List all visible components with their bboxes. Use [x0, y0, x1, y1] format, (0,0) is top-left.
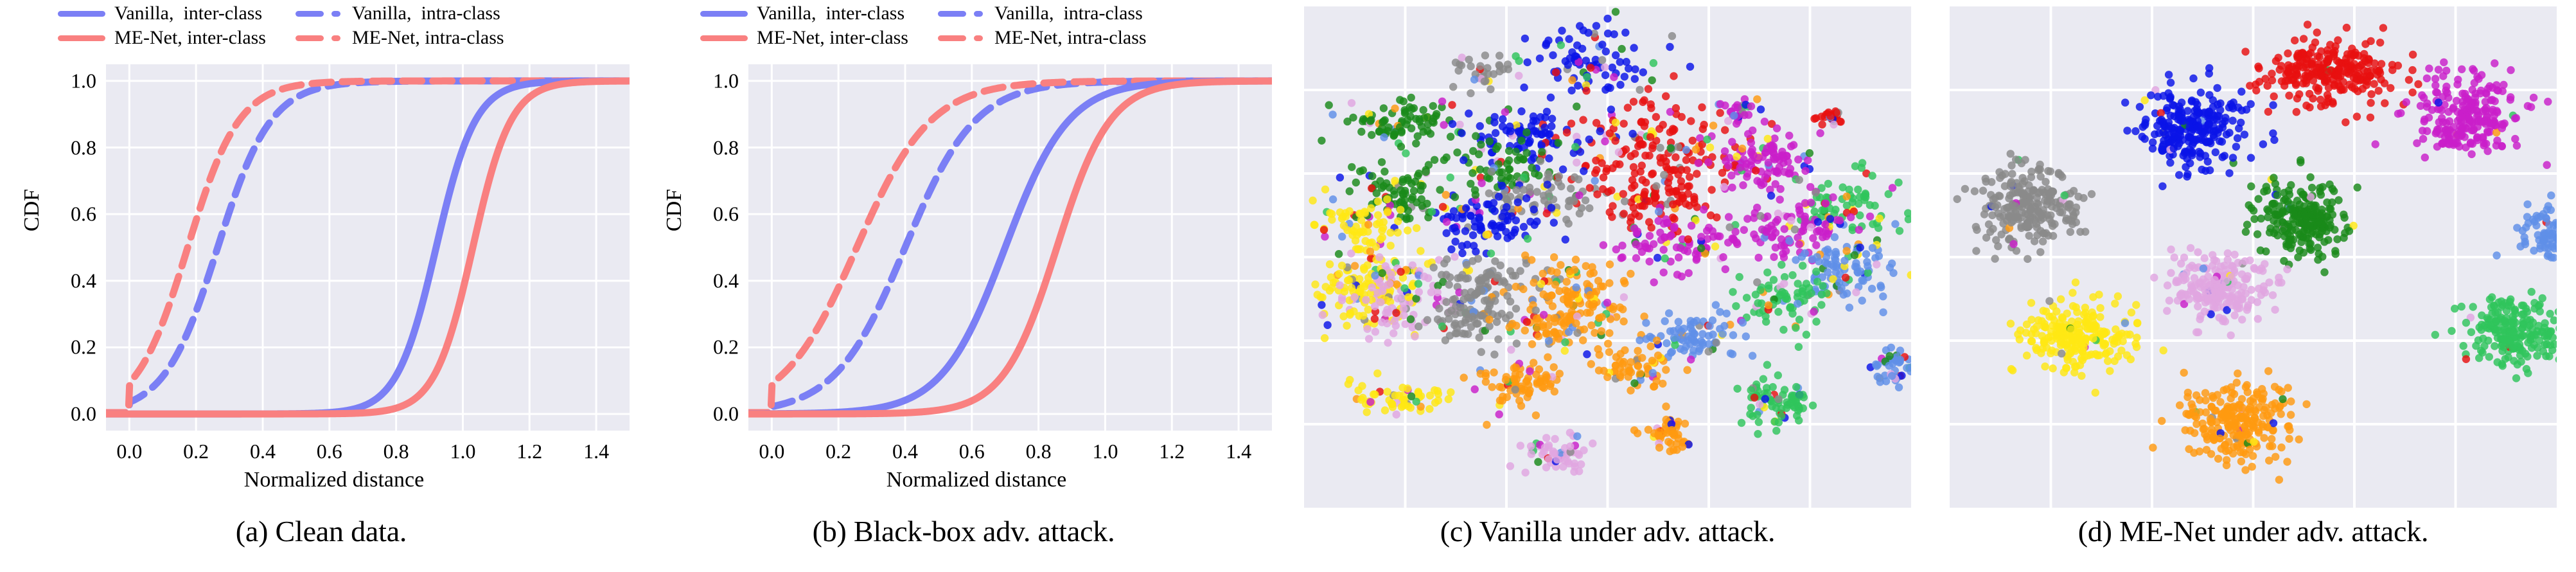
legend-swatch-solid-icon [700, 26, 748, 50]
legend-label: ME-Net, inter-class [114, 28, 266, 48]
cdf-chart-svg [106, 64, 630, 431]
tsne-scatter-svg [1950, 6, 2557, 508]
x-axis-ticks: 0.00.20.40.60.81.01.21.4 [745, 436, 1272, 468]
legend-label: Vanilla, inter-class [114, 4, 262, 23]
legend-label: ME-Net, intra-class [352, 28, 504, 48]
legend-entry: Vanilla, inter-class [700, 1, 904, 26]
y-tick-label: 0.8 [675, 136, 739, 159]
legend-entry: Vanilla, inter-class [58, 1, 262, 26]
x-tick-label: 1.2 [504, 440, 555, 463]
scatter-plot-menet [1950, 6, 2557, 508]
panel-d-menet-tsne: (d) ME-Net under adv. attack. [1930, 0, 2576, 572]
x-tick-label: 0.6 [946, 440, 998, 463]
axes-panel-a: CDF 0.00.20.40.60.81.0 0.00.20.40.60.81.… [0, 50, 642, 513]
x-axis-ticks: 0.00.20.40.60.81.01.21.4 [103, 436, 630, 468]
legend-swatch-dashed-icon [938, 1, 985, 26]
y-tick-label: 1.0 [675, 69, 739, 93]
y-tick-label: 0.0 [32, 402, 96, 426]
y-tick-label: 0.8 [32, 136, 96, 159]
legend-entry: ME-Net, inter-class [700, 26, 908, 50]
y-axis-ticks: 0.00.20.40.60.81.0 [0, 50, 96, 436]
x-tick-label: 0.6 [304, 440, 355, 463]
legend-panel-a: Vanilla, inter-classME-Net, inter-classV… [45, 1, 623, 51]
tsne-scatter-svg [1304, 6, 1911, 508]
legend-entry: ME-Net, inter-class [58, 26, 266, 50]
y-tick-label: 1.0 [32, 69, 96, 93]
y-tick-label: 0.2 [32, 335, 96, 359]
y-tick-label: 0.6 [675, 202, 739, 226]
plot-background [748, 64, 1272, 431]
legend-label: ME-Net, intra-class [994, 28, 1147, 48]
plot-area-panel-a [106, 64, 630, 431]
legend-swatch-solid-icon [58, 1, 105, 26]
cdf-chart-svg [748, 64, 1272, 431]
plot-area-panel-b [748, 64, 1272, 431]
legend-label: Vanilla, intra-class [352, 4, 500, 23]
legend-label: ME-Net, inter-class [757, 28, 908, 48]
x-tick-label: 0.8 [371, 440, 422, 463]
x-tick-label: 0.0 [746, 440, 797, 463]
y-tick-label: 0.2 [675, 335, 739, 359]
x-tick-label: 1.0 [1079, 440, 1131, 463]
panel-a-clean-data: Vanilla, inter-classME-Net, inter-classV… [0, 0, 642, 572]
y-tick-label: 0.0 [675, 402, 739, 426]
x-tick-label: 0.2 [170, 440, 222, 463]
legend-swatch-solid-icon [58, 26, 105, 50]
panel-c-vanilla-tsne: (c) Vanilla under adv. attack. [1285, 0, 1930, 572]
caption-panel-d: (d) ME-Net under adv. attack. [1930, 514, 2576, 548]
legend-swatch-dashed-icon [296, 1, 343, 26]
x-tick-label: 0.2 [813, 440, 864, 463]
caption-panel-b: (b) Black-box adv. attack. [642, 514, 1285, 548]
x-tick-label: 1.2 [1146, 440, 1197, 463]
x-tick-label: 1.4 [1213, 440, 1264, 463]
legend-swatch-solid-icon [700, 1, 748, 26]
legend-panel-b: Vanilla, inter-classME-Net, inter-classV… [687, 1, 1266, 51]
legend-swatch-dashed-icon [296, 26, 343, 50]
x-tick-label: 0.4 [879, 440, 931, 463]
legend-swatch-dashed-icon [938, 26, 985, 50]
x-tick-label: 0.4 [237, 440, 288, 463]
x-tick-label: 0.0 [103, 440, 155, 463]
legend-entry: Vanilla, intra-class [296, 1, 500, 26]
x-axis-label: Normalized distance [45, 468, 623, 492]
x-tick-label: 1.4 [570, 440, 622, 463]
y-axis-ticks: 0.00.20.40.60.81.0 [642, 50, 739, 436]
x-axis-label: Normalized distance [687, 468, 1266, 492]
legend-label: Vanilla, inter-class [757, 4, 904, 23]
figure-root: Vanilla, inter-classME-Net, inter-classV… [0, 0, 2576, 572]
legend-entry: ME-Net, intra-class [938, 26, 1147, 50]
y-tick-label: 0.4 [675, 269, 739, 292]
x-tick-label: 0.8 [1013, 440, 1064, 463]
caption-panel-c: (c) Vanilla under adv. attack. [1285, 514, 1930, 548]
legend-label: Vanilla, intra-class [994, 4, 1143, 23]
panel-b-blackbox-attack: Vanilla, inter-classME-Net, inter-classV… [642, 0, 1285, 572]
legend-entry: Vanilla, intra-class [938, 1, 1143, 26]
y-tick-label: 0.6 [32, 202, 96, 226]
legend-entry: ME-Net, intra-class [296, 26, 504, 50]
y-tick-label: 0.4 [32, 269, 96, 292]
axes-panel-b: CDF 0.00.20.40.60.81.0 0.00.20.40.60.81.… [642, 50, 1285, 513]
scatter-plot-vanilla [1304, 6, 1911, 508]
x-tick-label: 1.0 [437, 440, 488, 463]
caption-panel-a: (a) Clean data. [0, 514, 642, 548]
